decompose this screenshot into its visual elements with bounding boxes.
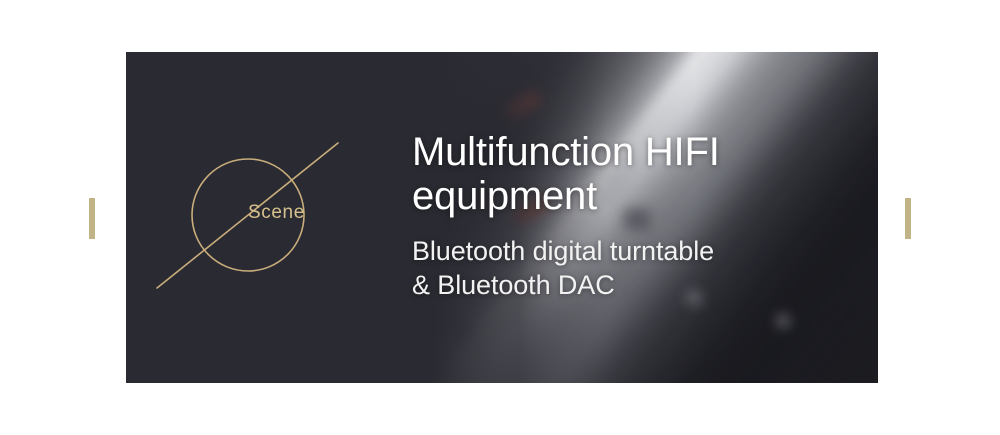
right-accent-mark	[905, 198, 911, 239]
device-led-indicator-top	[505, 90, 541, 119]
banner-stage: Scene Multifunction HIFI equipment Bluet…	[0, 0, 1000, 435]
banner-subcopy-line-2: & Bluetooth DAC	[412, 268, 852, 302]
banner-copy-block: Multifunction HIFI equipment Bluetooth d…	[412, 130, 852, 302]
device-port-blur	[426, 320, 472, 340]
hero-banner: Scene Multifunction HIFI equipment Bluet…	[126, 52, 878, 383]
banner-subcopy-line-1: Bluetooth digital turntable	[412, 234, 852, 268]
banner-subcopy: Bluetooth digital turntable & Bluetooth …	[412, 234, 852, 302]
left-accent-mark	[89, 198, 95, 239]
banner-headline: Multifunction HIFI equipment	[412, 130, 852, 218]
banner-headline-line-2: equipment	[412, 174, 852, 218]
banner-headline-line-1: Multifunction HIFI	[412, 130, 852, 174]
device-dot-blur-2	[776, 314, 790, 328]
